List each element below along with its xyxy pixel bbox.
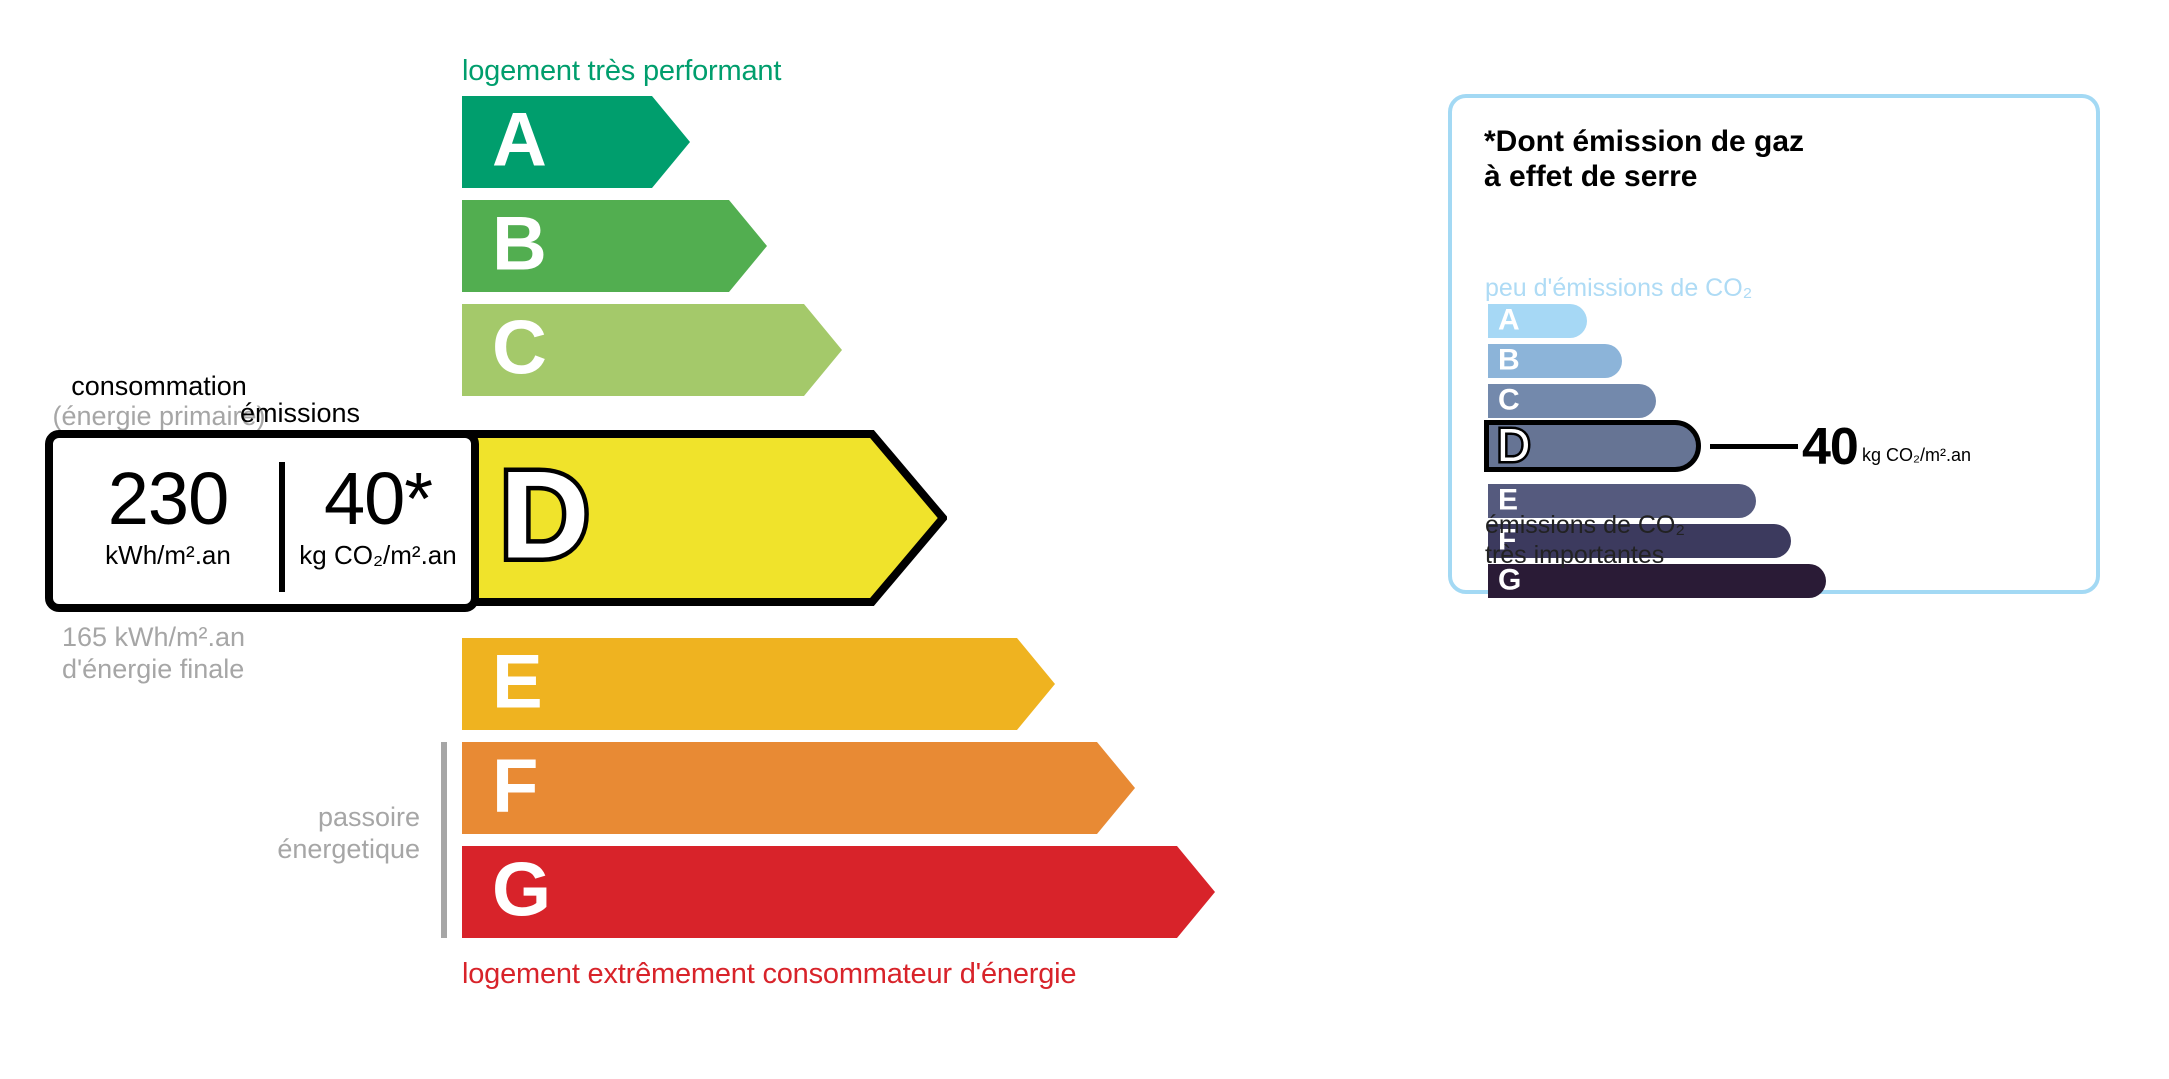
co2-band-a[interactable]: A <box>1488 304 1587 338</box>
co2-band-letter-c: C <box>1498 385 1520 415</box>
co2-bottom-caption: émissions de CO₂ très importantes <box>1485 510 1685 570</box>
passoire-label-line1: passoire <box>318 802 420 832</box>
co2-band-letter-d: D <box>1497 422 1530 468</box>
co2-value-unit: kg CO₂/m².an <box>1862 445 1971 466</box>
emissions-value-cell: 40* kg CO₂/m².an <box>287 460 469 571</box>
ladder-bottom-caption: logement extrêmement consommateur d'éner… <box>462 958 1076 991</box>
energy-band-a[interactable]: A <box>462 96 690 188</box>
energy-band-letter-f: F <box>492 748 538 824</box>
passoire-energetique-label: passoire énergetique <box>180 802 420 866</box>
consumption-label-sub: (énergie primaire) <box>46 401 272 431</box>
energy-band-letter-a: A <box>492 102 547 178</box>
energy-band-letter-d: D <box>500 454 590 578</box>
energy-band-e[interactable]: E <box>462 638 1055 730</box>
co2-band-letter-b: B <box>1498 345 1520 375</box>
value-box-divider <box>279 462 285 592</box>
co2-band-d-selected[interactable]: D <box>1484 420 1701 472</box>
co2-title-line2: à effet de serre <box>1484 160 1697 193</box>
final-energy-note: 165 kWh/m².an d'énergie finale <box>62 622 245 686</box>
consumption-unit: kWh/m².an <box>59 540 277 571</box>
band-arrow-shape-g <box>462 846 1215 938</box>
consumption-label-main: consommation <box>71 371 247 401</box>
emissions-unit: kg CO₂/m².an <box>287 540 469 571</box>
co2-top-caption: peu d'émissions de CO₂ <box>1485 274 1752 303</box>
energy-band-g[interactable]: G <box>462 846 1215 938</box>
ladder-top-caption: logement très performant <box>462 55 781 88</box>
energy-band-d-selected[interactable]: D <box>462 430 947 606</box>
energy-band-letter-e: E <box>492 644 543 720</box>
co2-band-b[interactable]: B <box>1488 344 1622 378</box>
co2-band-c[interactable]: C <box>1488 384 1656 418</box>
energy-band-letter-c: C <box>492 310 547 386</box>
co2-value: 40 <box>1802 421 1858 473</box>
co2-value-connector-line <box>1710 444 1798 449</box>
band-arrow-shape-e <box>462 638 1055 730</box>
final-energy-value: 165 kWh/m².an <box>62 622 245 652</box>
dpe-diagram: logement très performant A B C <box>0 0 2169 1079</box>
energy-band-letter-g: G <box>492 852 551 928</box>
co2-band-letter-a: A <box>1498 305 1520 335</box>
emissions-label: émissions <box>240 398 360 429</box>
co2-emissions-panel: *Dont émission de gaz à effet de serre p… <box>1448 94 2100 594</box>
co2-title-line1: *Dont émission de gaz <box>1484 125 1804 158</box>
consumption-value-cell: 230 kWh/m².an <box>59 460 277 571</box>
consumption-label: consommation (énergie primaire) <box>46 371 272 431</box>
final-energy-caption: d'énergie finale <box>62 654 244 684</box>
emissions-value: 40* <box>287 460 469 538</box>
band-arrow-shape-f <box>462 742 1135 834</box>
value-box: 230 kWh/m².an 40* kg CO₂/m².an <box>45 430 479 612</box>
energy-band-letter-b: B <box>492 206 547 282</box>
co2-panel-title: *Dont émission de gaz à effet de serre <box>1484 124 1804 195</box>
passoire-label-line2: énergetique <box>277 834 420 864</box>
energy-band-b[interactable]: B <box>462 200 767 292</box>
co2-bottom-caption-line2: très importantes <box>1485 541 1664 569</box>
co2-bottom-caption-line1: émissions de CO₂ <box>1485 511 1685 539</box>
energy-band-f[interactable]: F <box>462 742 1135 834</box>
energy-performance-ladder: logement très performant A B C <box>0 0 1400 1079</box>
consumption-value: 230 <box>59 460 277 538</box>
energy-band-c[interactable]: C <box>462 304 842 396</box>
passoire-energetique-bracket <box>441 742 447 938</box>
